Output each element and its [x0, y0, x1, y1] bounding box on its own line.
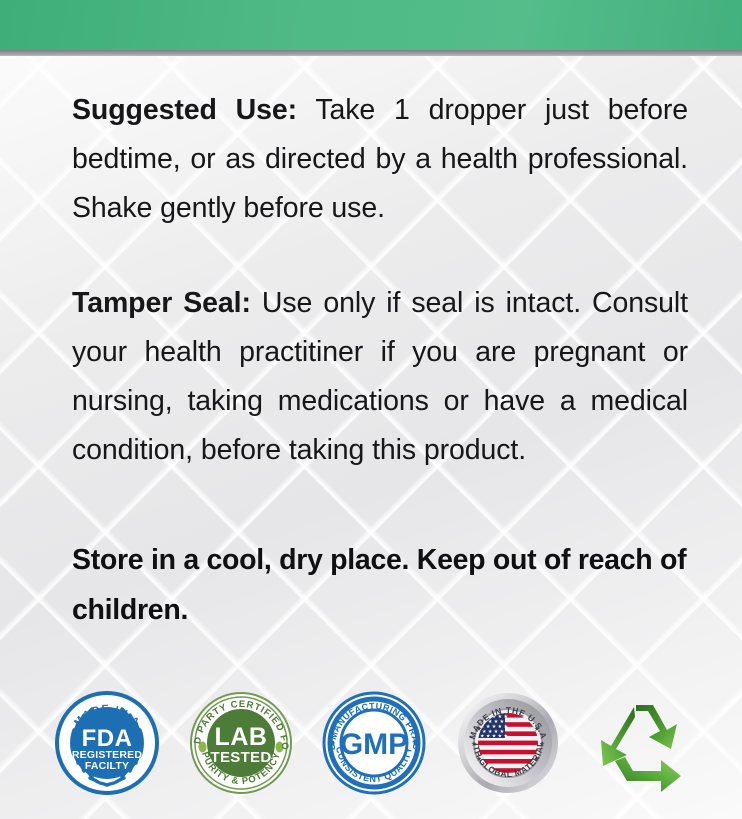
supplement-label-panel: Suggested Use: Take 1 dropper just befor… — [0, 0, 742, 819]
svg-text:FDA: FDA — [82, 725, 133, 752]
svg-text:LAB: LAB — [214, 723, 267, 751]
fda-registered-facility-badge: MADE IN A FDA REGISTERED FACILTY — [54, 690, 160, 796]
gmp-certified-badge: GOOD MANUFACTURING PRACTICE CONSISTENT Q… — [321, 690, 427, 796]
label-body-area: Suggested Use: Take 1 dropper just befor… — [0, 56, 742, 819]
suggested-use-paragraph: Suggested Use: Take 1 dropper just befor… — [72, 86, 688, 233]
svg-text:TESTED: TESTED — [210, 749, 271, 766]
recycle-symbol-icon — [588, 690, 694, 796]
recyclable-badge — [588, 690, 694, 796]
certification-badge-row: MADE IN A FDA REGISTERED FACILTY — [54, 688, 694, 798]
lab-tested-seal-icon: 3RD PARTY CERTIFIED FOR PURITY & POTENCY… — [188, 690, 294, 796]
storage-warning-paragraph: Store in a cool, dry place. Keep out of … — [72, 535, 688, 635]
svg-text:GMP: GMP — [340, 728, 408, 761]
suggested-use-label: Suggested Use: — [72, 94, 297, 126]
svg-text:★ ★ ★ ★ ★: ★ ★ ★ ★ ★ — [480, 734, 508, 740]
usa-flag-seal-icon: ★ ★ ★ ★ ★ ★ ★ ★ ★ ★ ★ ★ ★ ★ ★ ★ ★ ★ ★ ★ … — [455, 690, 561, 796]
tamper-seal-paragraph: Tamper Seal: Use only if seal is intact.… — [72, 279, 688, 475]
lab-tested-badge: 3RD PARTY CERTIFIED FOR PURITY & POTENCY… — [188, 690, 294, 796]
made-in-usa-badge: ★ ★ ★ ★ ★ ★ ★ ★ ★ ★ ★ ★ ★ ★ ★ ★ ★ ★ ★ ★ … — [455, 690, 561, 796]
tamper-seal-label: Tamper Seal: — [72, 287, 251, 319]
top-green-band — [0, 0, 742, 50]
label-text-block: Suggested Use: Take 1 dropper just befor… — [72, 86, 688, 635]
svg-text:FACILTY: FACILTY — [85, 760, 129, 772]
gmp-seal-icon: GOOD MANUFACTURING PRACTICE CONSISTENT Q… — [321, 690, 427, 796]
fda-seal-icon: MADE IN A FDA REGISTERED FACILTY — [54, 690, 160, 796]
